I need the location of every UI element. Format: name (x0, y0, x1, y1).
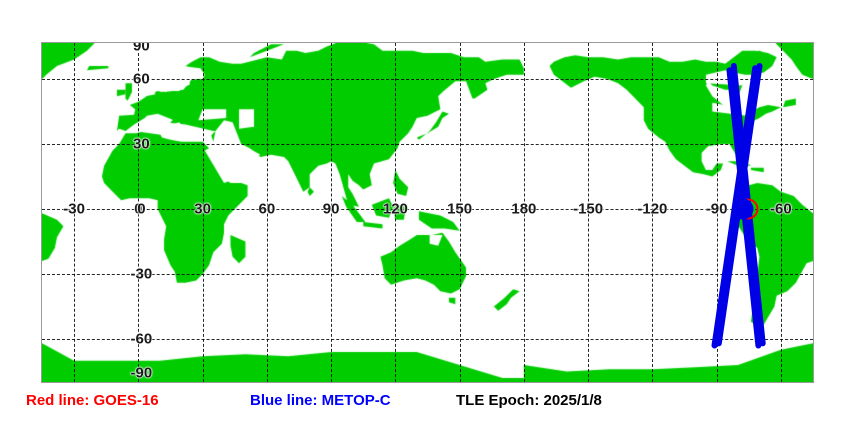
lon-tick-label--120: -120 (637, 201, 667, 218)
lat-tick-label-0: 0 (137, 201, 145, 218)
lon-tick-label-60: 60 (259, 201, 276, 218)
lat-tick-label-30: 30 (133, 136, 150, 153)
satellite-ground-track-page: -300306090120150180-150-120-90-609060300… (0, 0, 850, 425)
lon-tick-label--90: -90 (706, 201, 728, 218)
world-map-plot: -300306090120150180-150-120-90-609060300… (41, 42, 814, 383)
gridline-lat--30 (42, 274, 813, 275)
legend-metop-c: Blue line: METOP-C (250, 392, 391, 409)
legend-bar: Red line: GOES-16 Blue line: METOP-C TLE… (0, 392, 850, 420)
lat-tick-label-60: 60 (133, 71, 150, 88)
legend-tle-epoch: TLE Epoch: 2025/1/8 (456, 392, 602, 409)
lat-tick-label-90: 90 (133, 42, 150, 55)
lon-tick-label-180: 180 (511, 201, 536, 218)
gridline-lat--60 (42, 339, 813, 340)
lon-tick-label-120: 120 (383, 201, 408, 218)
gridline-lat-60 (42, 79, 813, 80)
world-map-landmass (42, 43, 813, 382)
lon-tick-label-150: 150 (447, 201, 472, 218)
legend-goes-16: Red line: GOES-16 (26, 392, 159, 409)
lon-tick-label--60: -60 (770, 201, 792, 218)
lon-tick-label-90: 90 (323, 201, 340, 218)
lat-tick-label--30: -30 (131, 266, 153, 283)
lon-tick-label--30: -30 (63, 201, 85, 218)
lat-tick-label--90: -90 (131, 365, 153, 382)
lat-tick-label--60: -60 (131, 331, 153, 348)
gridline-lat-30 (42, 144, 813, 145)
lon-tick-label--150: -150 (573, 201, 603, 218)
gridline-lat-0 (42, 209, 813, 210)
lon-tick-label-30: 30 (194, 201, 211, 218)
